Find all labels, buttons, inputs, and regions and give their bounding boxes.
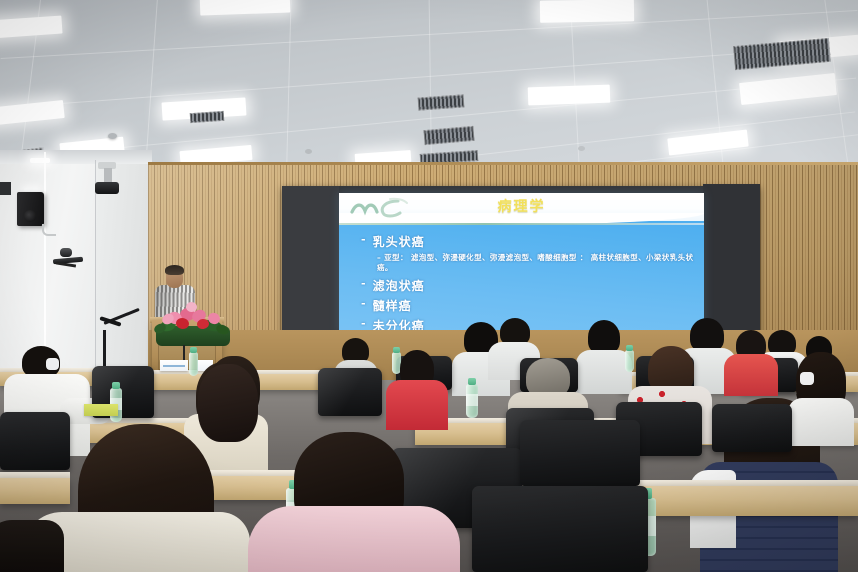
ceiling-light-panel — [0, 16, 63, 39]
audience-body — [386, 380, 448, 430]
chair-highlight — [318, 368, 382, 416]
smoke-detector-icon — [305, 149, 312, 154]
audience-body — [788, 398, 854, 446]
screen-frame-left-panel — [282, 186, 339, 338]
speaker-bracket — [42, 224, 56, 236]
face-mask — [800, 372, 814, 385]
table — [0, 478, 70, 504]
chair — [712, 404, 792, 452]
audience-body — [576, 350, 632, 394]
chair — [520, 420, 640, 486]
bullet-text: 髓样癌 — [373, 297, 412, 314]
wall-panel-dark — [0, 182, 11, 195]
presenter-hair — [165, 265, 184, 275]
wall-seam — [95, 160, 96, 395]
wall-soffit — [0, 150, 152, 164]
slide-subbullet: – 亚型： 滤泡型、弥漫硬化型、弥漫滤泡型、嗜酸细胞型 ： 高柱状细胞型、小梁状… — [377, 253, 701, 273]
flower-arrangement — [150, 300, 236, 348]
bottle-cap — [112, 382, 120, 389]
bullet-text: 滤泡状癌 — [373, 277, 425, 294]
bullet-text: 乳头状癌 — [373, 233, 425, 250]
face-mask — [46, 358, 59, 370]
bottle-cap — [393, 347, 400, 353]
bullet-dash: - — [361, 317, 367, 330]
slide-title: 病理学 — [339, 196, 704, 216]
screen-frame-right-panel — [703, 184, 760, 338]
ceiling-light-panel — [540, 0, 634, 23]
slide-bullet: - 髓样癌 — [361, 297, 701, 314]
projected-slide: 病理学 - 乳头状癌 – 亚型： 滤泡型、弥漫硬化型、弥漫滤泡型、嗜酸细胞型 ：… — [339, 193, 704, 333]
ceiling-air-vent — [418, 94, 465, 110]
ceiling-light-panel — [0, 100, 65, 126]
name-card-text-line — [163, 365, 185, 367]
wall-speaker — [17, 192, 44, 226]
ceiling-light-panel — [739, 73, 837, 105]
bullet-dash: - — [361, 297, 367, 310]
bullet-dash: - — [361, 233, 367, 246]
bottle-label — [466, 394, 478, 406]
ceiling-air-vent — [190, 111, 225, 123]
water-bottle — [625, 350, 634, 372]
recessed-downlight — [30, 158, 50, 163]
slide-bullet: - 乳头状癌 — [361, 233, 701, 250]
chair — [0, 412, 70, 470]
audience-hair — [690, 318, 724, 352]
paper-document — [84, 404, 118, 416]
slide-divider-rule — [339, 223, 704, 225]
ceiling-light-panel — [528, 85, 611, 106]
ceiling-projector — [95, 182, 119, 194]
chair — [472, 486, 648, 572]
audience-body — [724, 354, 778, 396]
lecture-room-photo: 病理学 - 乳头状癌 – 亚型： 滤泡型、弥漫硬化型、弥漫滤泡型、嗜酸细胞型 ：… — [0, 0, 858, 572]
ceiling-light-panel — [200, 0, 291, 16]
slide-body: - 乳头状癌 – 亚型： 滤泡型、弥漫硬化型、弥漫滤泡型、嗜酸细胞型 ： 高柱状… — [361, 233, 701, 333]
bullet-dash: - — [361, 277, 367, 290]
bottle-cap — [626, 345, 633, 351]
audience-hair — [588, 320, 620, 354]
ceiling-air-vent — [423, 126, 474, 145]
water-bottle — [189, 352, 198, 376]
slide-bullet: - 滤泡状癌 — [361, 277, 701, 294]
audience-body — [0, 520, 64, 572]
audience-hair — [198, 364, 258, 442]
bottle-cap — [468, 378, 476, 385]
audience-body-pink — [248, 506, 460, 572]
wall-camera-icon — [60, 248, 72, 257]
bottle-cap — [190, 347, 197, 353]
ceiling-air-vent — [733, 38, 831, 70]
wood-wall-top-edge — [148, 162, 858, 165]
smoke-detector-icon — [108, 133, 117, 139]
smoke-detector-icon — [578, 146, 585, 151]
